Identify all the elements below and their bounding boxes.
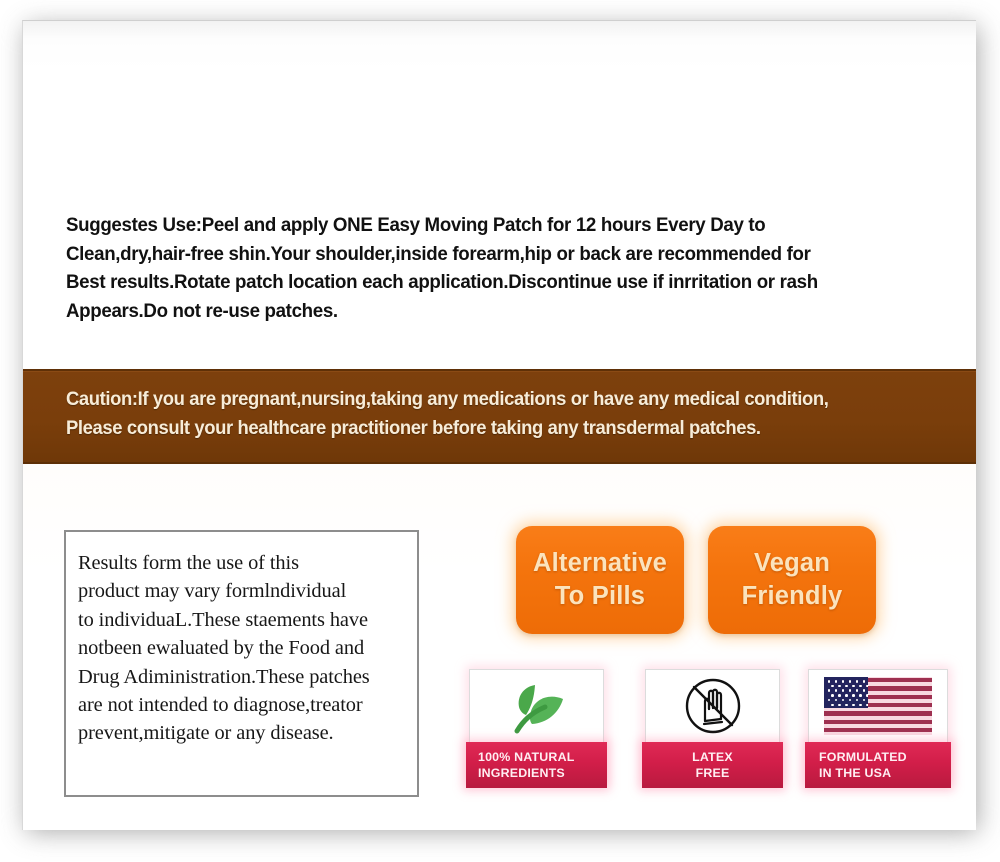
cert-natural-line-2: INGREDIENTS	[478, 765, 565, 781]
cert-usa-line-1: FORMULATED	[819, 749, 907, 765]
flag-star	[842, 689, 845, 692]
flag-stripe	[824, 720, 932, 724]
no-glove-icon	[646, 670, 779, 742]
flag-star	[835, 689, 838, 692]
cert-latex-free: LATEX FREE	[645, 669, 780, 781]
label-top-blank-area	[23, 21, 976, 211]
card-inner-surface: Suggestes Use:Peel and apply ONE Easy Mo…	[23, 21, 976, 830]
product-label-image: Suggestes Use:Peel and apply ONE Easy Mo…	[0, 0, 1000, 862]
flag-stripe	[868, 703, 932, 707]
flag-stripe	[868, 678, 932, 682]
cert-latex-line-2: FREE	[696, 765, 730, 781]
flag-star	[849, 689, 852, 692]
disclaimer-text: Results form the use of this product may…	[78, 549, 414, 748]
flag-star	[852, 685, 855, 688]
flag-star	[845, 694, 848, 697]
flag-star	[845, 704, 848, 707]
flag-star	[859, 685, 862, 688]
flag-star	[852, 694, 855, 697]
cert-usa-label: FORMULATED IN THE USA	[805, 742, 951, 788]
flag-star	[852, 704, 855, 707]
badge-vegan-line-2: Friendly	[742, 580, 843, 613]
badge-vegan-friendly: Vegan Friendly	[708, 526, 876, 634]
badge-alternative-line-1: Alternative	[533, 547, 667, 580]
flag-star	[863, 699, 866, 702]
flag-star	[859, 704, 862, 707]
flag-star	[838, 704, 841, 707]
cert-latex-label: LATEX FREE	[642, 742, 783, 788]
flag-stripe	[824, 711, 932, 715]
flag-star	[835, 680, 838, 683]
cert-formulated-in-usa: FORMULATED IN THE USA	[808, 669, 948, 781]
caution-band: Caution:If you are pregnant,nursing,taki…	[23, 369, 976, 464]
flag-canton	[824, 677, 868, 708]
caution-text: Caution:If you are pregnant,nursing,taki…	[66, 385, 912, 443]
disclaimer-box: Results form the use of this product may…	[64, 530, 419, 797]
badge-vegan-line-1: Vegan	[754, 547, 830, 580]
flag-star	[849, 680, 852, 683]
flag-star	[856, 689, 859, 692]
cert-latex-line-1: LATEX	[692, 749, 733, 765]
flag-star	[838, 694, 841, 697]
suggested-use-text: Suggestes Use:Peel and apply ONE Easy Mo…	[66, 211, 906, 325]
flag-stripe	[868, 686, 932, 690]
cert-natural-label: 100% NATURAL INGREDIENTS	[466, 742, 607, 788]
flag-star	[838, 685, 841, 688]
flag-star	[831, 694, 834, 697]
flag-stripe	[824, 728, 932, 732]
flag-star	[856, 699, 859, 702]
flag-star	[859, 694, 862, 697]
flag-star	[856, 680, 859, 683]
flag-star	[831, 685, 834, 688]
supplement-label-card: Suggestes Use:Peel and apply ONE Easy Mo…	[22, 20, 976, 830]
flag-star	[842, 699, 845, 702]
flag-star	[828, 689, 831, 692]
cert-natural-line-1: 100% NATURAL	[478, 749, 575, 765]
flag-star	[828, 699, 831, 702]
flag-star	[863, 680, 866, 683]
flag-star	[835, 699, 838, 702]
cert-usa-line-2: IN THE USA	[819, 765, 891, 781]
leaf-icon	[470, 670, 603, 742]
usa-flag-graphic	[824, 677, 932, 735]
flag-star	[849, 699, 852, 702]
flag-star	[842, 680, 845, 683]
label-lower-section: Results form the use of this product may…	[23, 464, 976, 830]
flag-star	[828, 680, 831, 683]
flag-star	[845, 685, 848, 688]
badge-alternative-line-2: To Pills	[555, 580, 645, 613]
flag-star	[863, 689, 866, 692]
flag-stripe	[868, 695, 932, 699]
cert-natural-ingredients: 100% NATURAL INGREDIENTS	[469, 669, 604, 781]
usa-flag-icon	[809, 670, 947, 742]
badge-alternative-to-pills: Alternative To Pills	[516, 526, 684, 634]
flag-star	[831, 704, 834, 707]
